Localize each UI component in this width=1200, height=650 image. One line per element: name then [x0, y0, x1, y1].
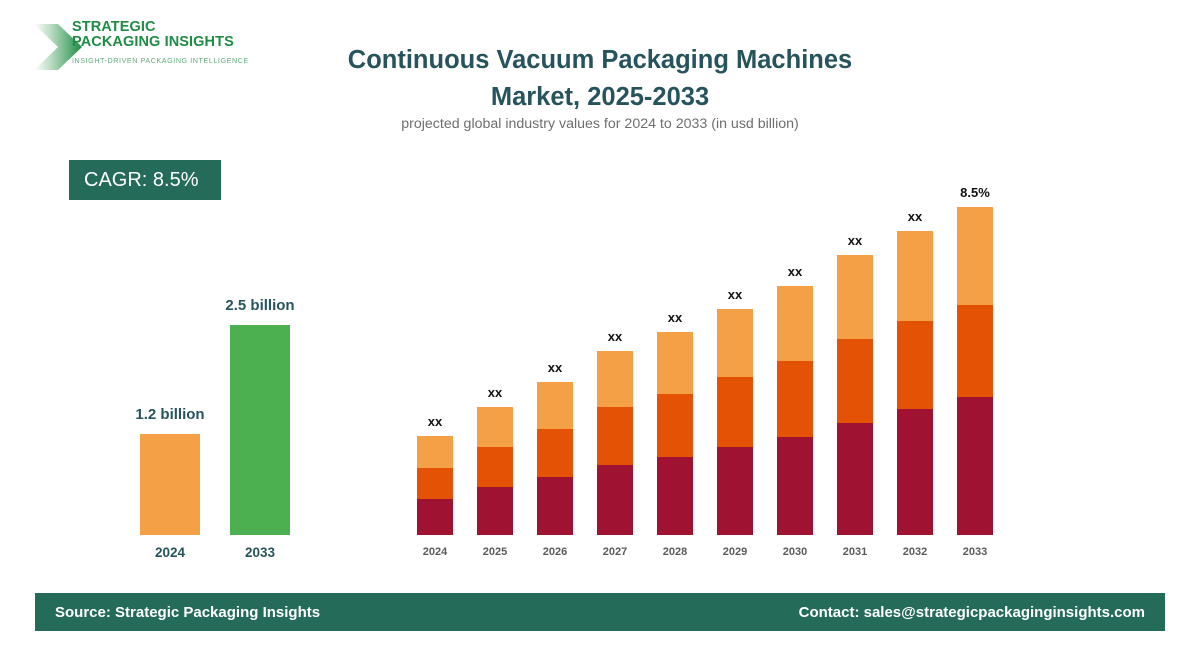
stacked-segment-segment-middle-2025 [477, 447, 513, 487]
stacked-bar-group-2029: xx2029 [717, 225, 753, 560]
stacked-value-label-2025: xx [465, 385, 525, 400]
stacked-value-label-2031: xx [825, 233, 885, 248]
stacked-bar-group-2033: 8.5%2033 [957, 225, 993, 560]
stacked-segment-segment-top-2026 [537, 382, 573, 429]
footer-source: Source: Strategic Packaging Insights [55, 604, 320, 621]
footer-contact: Contact: sales@strategicpackaginginsight… [799, 604, 1145, 621]
stacked-segment-segment-middle-2028 [657, 394, 693, 457]
stacked-value-label-2027: xx [585, 329, 645, 344]
stacked-segment-segment-bottom-2030 [777, 437, 813, 535]
stacked-bar-2029 [717, 309, 753, 535]
stacked-segment-segment-bottom-2027 [597, 465, 633, 535]
stacked-segment-segment-bottom-2026 [537, 477, 573, 535]
stacked-bar-group-2031: xx2031 [837, 225, 873, 560]
stacked-segment-segment-middle-2030 [777, 361, 813, 437]
stacked-segment-segment-bottom-2033 [957, 397, 993, 535]
stacked-segment-segment-top-2031 [837, 255, 873, 339]
stacked-bar-group-2032: xx2032 [897, 225, 933, 560]
stacked-segment-segment-bottom-2032 [897, 409, 933, 535]
stacked-segment-segment-top-2029 [717, 309, 753, 377]
stacked-bar-group-2028: xx2028 [657, 225, 693, 560]
stacked-x-tick-2029: 2029 [711, 546, 759, 558]
footer-bar: Source: Strategic Packaging Insights Con… [35, 593, 1165, 631]
stacked-segment-segment-bottom-2025 [477, 487, 513, 535]
stacked-bar-2033 [957, 207, 993, 535]
stacked-bar-group-2030: xx2030 [777, 225, 813, 560]
cagr-badge-label: CAGR: 8.5% [84, 169, 198, 192]
stacked-segment-segment-bottom-2024 [417, 499, 453, 535]
stacked-bar-2026 [537, 382, 573, 535]
comparison-bar-2033 [230, 325, 290, 535]
stacked-value-label-2033: 8.5% [945, 185, 1005, 200]
logo-text: STRATEGIC PACKAGING INSIGHTS INSIGHT-DRI… [72, 20, 249, 65]
stacked-segment-segment-middle-2027 [597, 407, 633, 465]
stacked-x-tick-2032: 2032 [891, 546, 939, 558]
stacked-bar-group-2024: xx2024 [417, 225, 453, 560]
stacked-x-tick-2030: 2030 [771, 546, 819, 558]
brand-logo: STRATEGIC PACKAGING INSIGHTS INSIGHT-DRI… [32, 16, 262, 78]
stacked-bar-2032 [897, 231, 933, 535]
stacked-value-label-2028: xx [645, 310, 705, 325]
stacked-bar-2024 [417, 436, 453, 535]
stacked-segment-segment-middle-2032 [897, 321, 933, 409]
stacked-x-tick-2031: 2031 [831, 546, 879, 558]
stacked-x-tick-2025: 2025 [471, 546, 519, 558]
stacked-x-tick-2028: 2028 [651, 546, 699, 558]
comparison-x-tick-2033: 2033 [230, 545, 290, 560]
stacked-bar-group-2026: xx2026 [537, 225, 573, 560]
stacked-x-tick-2033: 2033 [951, 546, 999, 558]
stacked-segment-segment-bottom-2031 [837, 423, 873, 535]
stacked-segment-segment-middle-2029 [717, 377, 753, 447]
stacked-segment-segment-middle-2024 [417, 468, 453, 499]
stacked-bar-group-2027: xx2027 [597, 225, 633, 560]
stacked-bar-2031 [837, 255, 873, 535]
stacked-value-label-2032: xx [885, 209, 945, 224]
segmented-forecast-chart: xx2024xx2025xx2026xx2027xx2028xx2029xx20… [410, 200, 1010, 560]
stacked-segment-segment-middle-2033 [957, 305, 993, 397]
comparison-x-tick-2024: 2024 [140, 545, 200, 560]
stacked-segment-segment-top-2027 [597, 351, 633, 407]
stacked-value-label-2026: xx [525, 360, 585, 375]
stacked-segment-segment-bottom-2028 [657, 457, 693, 535]
stacked-value-label-2029: xx [705, 287, 765, 302]
stacked-bar-2025 [477, 407, 513, 535]
page-title: Continuous Vacuum Packaging Machines Mar… [300, 42, 900, 116]
stacked-segment-segment-top-2025 [477, 407, 513, 447]
stacked-bar-group-2025: xx2025 [477, 225, 513, 560]
market-size-comparison-chart: 1.2 billion20242.5 billion2033 [60, 300, 280, 570]
stacked-x-tick-2024: 2024 [411, 546, 459, 558]
stacked-segment-segment-top-2024 [417, 436, 453, 468]
stacked-x-tick-2027: 2027 [591, 546, 639, 558]
cagr-badge: CAGR: 8.5% [69, 160, 221, 200]
comparison-value-label-2033: 2.5 billion [180, 297, 340, 314]
stacked-segment-segment-bottom-2029 [717, 447, 753, 535]
stacked-value-label-2030: xx [765, 264, 825, 279]
stacked-bar-2030 [777, 286, 813, 535]
stacked-segment-segment-top-2032 [897, 231, 933, 321]
comparison-value-label-2024: 1.2 billion [90, 406, 250, 423]
logo-tagline: INSIGHT-DRIVEN PACKAGING INTELLIGENCE [72, 56, 249, 65]
comparison-bar-2024 [140, 434, 200, 535]
stacked-segment-segment-top-2033 [957, 207, 993, 305]
page-subtitle: projected global industry values for 202… [290, 116, 910, 132]
stacked-segment-segment-middle-2031 [837, 339, 873, 423]
stacked-segment-segment-top-2028 [657, 332, 693, 394]
stacked-x-tick-2026: 2026 [531, 546, 579, 558]
stacked-value-label-2024: xx [405, 414, 465, 429]
stacked-bar-2028 [657, 332, 693, 535]
stacked-segment-segment-top-2030 [777, 286, 813, 361]
logo-line-2: PACKAGING INSIGHTS [72, 35, 249, 50]
stacked-segment-segment-middle-2026 [537, 429, 573, 477]
stacked-bar-2027 [597, 351, 633, 535]
logo-line-1: STRATEGIC [72, 20, 249, 35]
